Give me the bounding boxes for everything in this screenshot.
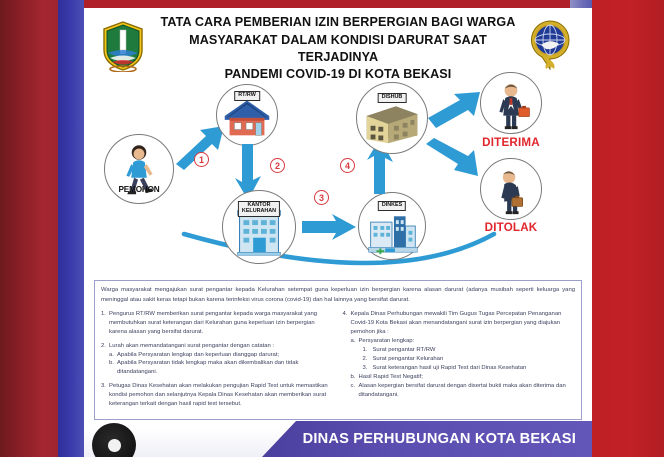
item-marker: 4. [343, 310, 348, 319]
sub-sub-item-marker: 2. [363, 355, 368, 364]
node-diterima[interactable] [480, 72, 542, 134]
node-dishub[interactable]: DISHUB [356, 82, 428, 154]
screenshot-root: TATA CARA PEMBERIAN IZIN BERPERGIAN BAGI… [0, 0, 664, 457]
sub-item-marker: c. [351, 382, 356, 391]
node-tag-rtrw: RT/RW [234, 91, 260, 101]
node-tag-kelurahan-line-2: KELURAHAN [242, 209, 276, 215]
item-marker: 2. [101, 342, 106, 351]
left-column: 1. Pengurus RT/RW memberikan surat penga… [101, 310, 334, 413]
sub-sub-item-text: Surat pengantar Kelurahan [373, 356, 444, 362]
item-text: Pengurus RT/RW memberikan surat penganta… [109, 311, 317, 335]
page-title: TATA CARA PEMBERIAN IZIN BERPERGIAN BAGI… [158, 14, 518, 84]
node-kelurahan[interactable]: KANTOR KELURAHAN [222, 190, 296, 264]
sub-item-marker: a. [109, 351, 114, 360]
item-text: Petugas Dinas Kesehatan akan melakukan p… [109, 383, 328, 407]
sub-item: c. Alasan kepergian bersifat darurat den… [351, 382, 576, 400]
node-label-pemohon: PEMOHON [105, 185, 173, 194]
numbered-list-columns: 1. Pengurus RT/RW memberikan surat penga… [101, 310, 575, 413]
node-rtrw[interactable]: RT/RW [216, 84, 278, 146]
sub-sub-item-marker: 1. [363, 346, 368, 355]
information-textbox: Warga masyarakat mengajukan surat pengan… [94, 280, 582, 420]
outer-frame-left-red [0, 0, 58, 457]
outcome-label-diterima: DITERIMA [468, 136, 554, 149]
node-tag-dishub: DISHUB [378, 93, 407, 103]
sub-sub-item-text: Surat keterangan hasil uji Rapid Test da… [373, 365, 527, 371]
title-line-1: TATA CARA PEMBERIAN IZIN BERPERGIAN BAGI… [158, 14, 518, 31]
list-item: 3. Petugas Dinas Kesehatan akan melakuka… [101, 382, 334, 409]
outcome-label-ditolak: DITOLAK [468, 221, 554, 234]
sub-item-marker: b. [351, 373, 356, 382]
footer-banner-text: DINAS PERHUBUNGAN KOTA BEKASI [303, 431, 576, 447]
node-tag-kelurahan: KANTOR KELURAHAN [238, 201, 280, 217]
sub-sub-item: 1. Surat pengantar RT/RW [359, 346, 576, 355]
outer-frame-right-red [592, 0, 664, 457]
intro-paragraph: Warga masyarakat mengajukan surat pengan… [101, 286, 575, 305]
step-number-4: 4 [340, 158, 355, 173]
inner-frame-left-blue [58, 0, 84, 457]
step-number-1: 1 [194, 152, 209, 167]
bekasi-city-crest-icon [100, 20, 146, 72]
sub-item-text: Hasil Rapid Test Negatif; [359, 374, 423, 380]
item-text: Lurah akan memandatangani surat penganta… [109, 343, 274, 349]
item-text: Kepala Dinas Perhubungan mewakili Tim Gu… [351, 311, 562, 335]
sub-item: a. Apabila Persyaratan lengkap dan keper… [109, 351, 334, 360]
sub-sub-item: 3. Surat keterangan hasil uji Rapid Test… [359, 364, 576, 373]
item-marker: 3. [101, 382, 106, 391]
step-number-2: 2 [270, 158, 285, 173]
arrow-dishub-to-diterima [426, 88, 484, 128]
sub-item-marker: b. [109, 359, 114, 368]
sad-businessman-rejected-icon [481, 158, 541, 220]
sub-sub-item-text: Surat pengantar RT/RW [373, 347, 436, 353]
sub-item: b. Apabila Persyaratan tidak lengkap mak… [109, 359, 334, 377]
list-item: 2. Lurah akan memandatangani surat penga… [101, 342, 334, 378]
node-tag-dinkes: DINKES [378, 201, 406, 211]
title-line-2: MASYARAKAT DALAM KONDISI DARURAT SAAT TE… [158, 32, 518, 67]
right-column: 4. Kepala Dinas Perhubungan mewakili Tim… [343, 310, 576, 413]
sub-item: a. Persyaratan lengkap: 1. Surat pengant… [351, 337, 576, 373]
sub-item-text: Alasan kepergian bersifat darurat dengan… [359, 383, 566, 398]
arrow-kelurahan-to-dinkes [300, 210, 358, 244]
happy-businessman-accepted-icon [481, 72, 541, 134]
step-number-3: 3 [314, 190, 329, 205]
node-dinkes[interactable]: DINKES [358, 192, 426, 260]
sub-item-text: Persyaratan lengkap: [359, 338, 415, 344]
sub-item-marker: a. [351, 337, 356, 346]
poster-card: TATA CARA PEMBERIAN IZIN BERPERGIAN BAGI… [84, 8, 592, 433]
list-item: 4. Kepala Dinas Perhubungan mewakili Tim… [343, 310, 576, 400]
sub-sub-item-marker: 3. [363, 364, 368, 373]
sub-item: b. Hasil Rapid Test Negatif; [351, 373, 576, 382]
ministry-of-transportation-globe-icon [528, 20, 572, 70]
process-flow-diagram: PEMOHON 1 RT/RW [90, 86, 586, 278]
footer-banner: DINAS PERHUBUNGAN KOTA BEKASI [262, 421, 592, 457]
sub-item-text: Apabila Persyaratan tidak lengkap maka a… [117, 360, 298, 375]
list-item: 1. Pengurus RT/RW memberikan surat penga… [101, 310, 334, 337]
title-line-3: PANDEMI COVID-19 DI KOTA BEKASI [158, 66, 518, 83]
item-marker: 1. [101, 310, 106, 319]
poster-footer: DINAS PERHUBUNGAN KOTA BEKASI [0, 421, 664, 457]
node-ditolak[interactable] [480, 158, 542, 220]
sub-sub-item: 2. Surat pengantar Kelurahan [359, 355, 576, 364]
node-pemohon[interactable]: PEMOHON [104, 134, 174, 204]
sub-item-text: Apabila Persyaratan lengkap dan keperlua… [117, 352, 279, 358]
